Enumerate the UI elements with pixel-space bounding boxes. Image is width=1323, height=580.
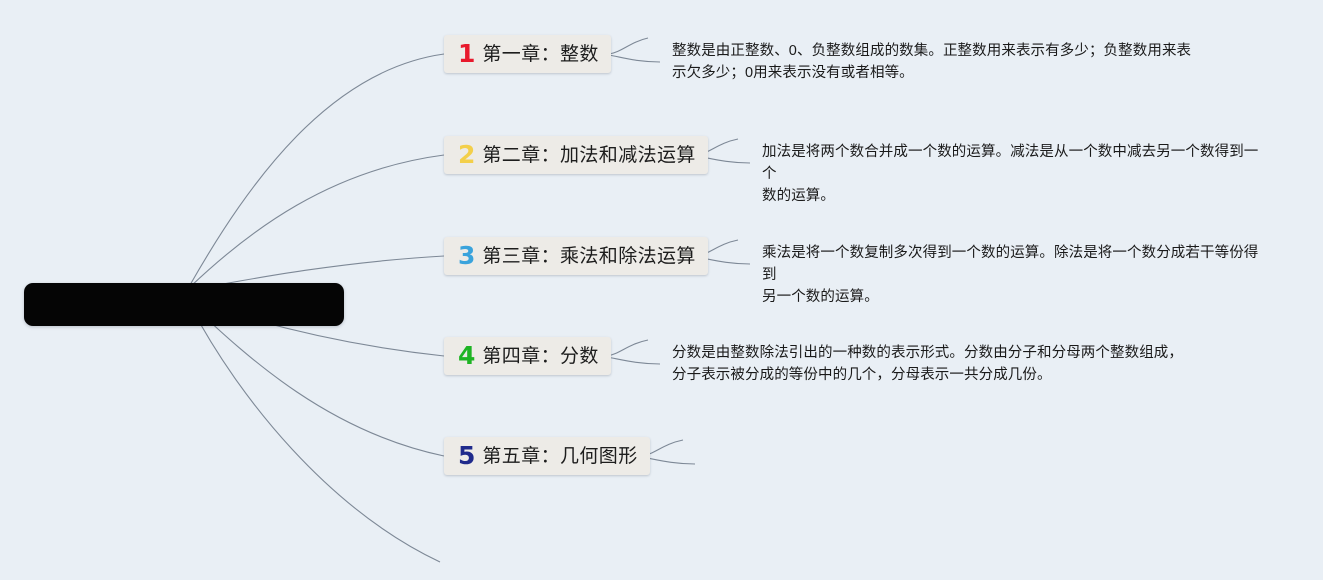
- chapter-node-3[interactable]: 3 第三章：乘法和除法运算: [444, 237, 708, 275]
- chapter-title-4: 第四章：分数: [482, 347, 598, 366]
- subbranch-chapter-4-upper: [607, 340, 648, 356]
- chapter-node-2[interactable]: 2 第二章：加法和减法运算: [444, 136, 708, 174]
- mindmap-canvas: 1 第一章：整数 整数是由正整数、0、负整数组成的数集。正整数用来表示有多少；负…: [0, 0, 1323, 580]
- chapter-node-4[interactable]: 4 第四章：分数: [444, 337, 611, 375]
- chapter-title-2: 第二章：加法和减法运算: [482, 146, 695, 165]
- subbranch-chapter-1-upper: [609, 38, 648, 54]
- chapter-number-1: 1: [458, 41, 475, 66]
- chapter-number-2: 2: [458, 142, 475, 167]
- chapter-description-3: 乘法是将一个数复制多次得到一个数的运算。除法是将一个数分成若干等份得到 另一个数…: [762, 242, 1267, 308]
- chapter-node-1[interactable]: 1 第一章：整数: [444, 35, 611, 73]
- link-root-to-chapter-2: [190, 155, 444, 287]
- chapter-description-2: 加法是将两个数合并成一个数的运算。减法是从一个数中减去另一个数得到一个 数的运算…: [762, 141, 1267, 207]
- chapter-number-4: 4: [458, 343, 475, 368]
- subbranch-chapter-1-lower: [609, 55, 660, 62]
- chapter-title-1: 第一章：整数: [482, 45, 598, 64]
- subbranch-chapter-5-lower: [642, 457, 695, 464]
- chapter-title-3: 第三章：乘法和除法运算: [482, 247, 695, 266]
- chapter-number-3: 3: [458, 243, 475, 268]
- chapter-title-5: 第五章：几何图形: [482, 447, 637, 466]
- chapter-description-1: 整数是由正整数、0、负整数组成的数集。正整数用来表示有多少；负整数用来表 示欠多…: [672, 40, 1192, 84]
- link-root-to-overflow-branch: [190, 305, 440, 562]
- subbranch-chapter-4-lower: [607, 357, 660, 364]
- link-root-to-chapter-1: [190, 54, 444, 285]
- chapter-number-5: 5: [458, 443, 475, 468]
- root-node[interactable]: [24, 283, 344, 326]
- chapter-node-5[interactable]: 5 第五章：几何图形: [444, 437, 650, 475]
- chapter-description-4: 分数是由整数除法引出的一种数的表示形式。分数由分子和分母两个整数组成， 分子表示…: [672, 342, 1192, 386]
